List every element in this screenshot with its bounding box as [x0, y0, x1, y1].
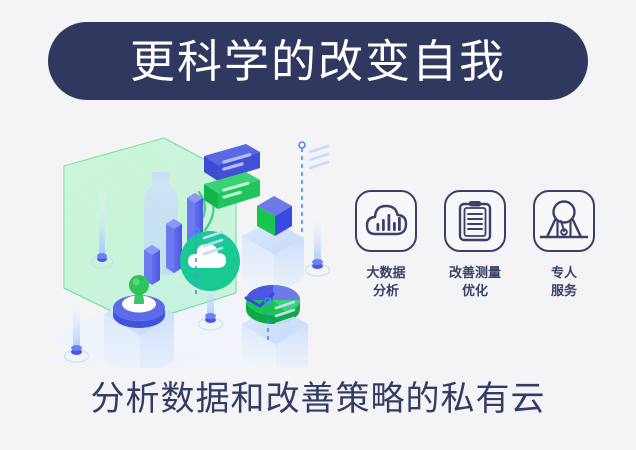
banner-title: 更科学的改变自我 — [130, 39, 506, 84]
tagline: 分析数据和改善策略的私有云 — [0, 382, 636, 416]
feature-card[interactable] — [444, 190, 506, 252]
illustration-svg — [46, 128, 346, 368]
floor-pin-right — [306, 206, 330, 276]
service-person-icon — [539, 199, 589, 243]
bar-2 — [166, 219, 182, 273]
poster-canvas: 更科学的改变自我 — [0, 0, 636, 450]
feature-label: 专人 服务 — [551, 265, 577, 300]
illustration — [46, 128, 346, 368]
feature-label: 改善测量 优化 — [449, 265, 501, 300]
clipboard-icon — [456, 199, 494, 243]
feature-label: 大数据 分析 — [366, 265, 405, 300]
cloud-bar-chart-icon — [364, 201, 408, 241]
feature-list: 大数据 分析 改善测量 优化 — [350, 190, 600, 330]
feature-card[interactable] — [355, 190, 417, 252]
feature-measurement-optimization[interactable]: 改善测量 优化 — [439, 190, 511, 300]
title-banner: 更科学的改变自我 — [48, 22, 588, 100]
feature-dedicated-service[interactable]: 专人 服务 — [528, 190, 600, 300]
feature-big-data-analysis[interactable]: 大数据 分析 — [350, 190, 422, 300]
feature-card[interactable] — [533, 190, 595, 252]
